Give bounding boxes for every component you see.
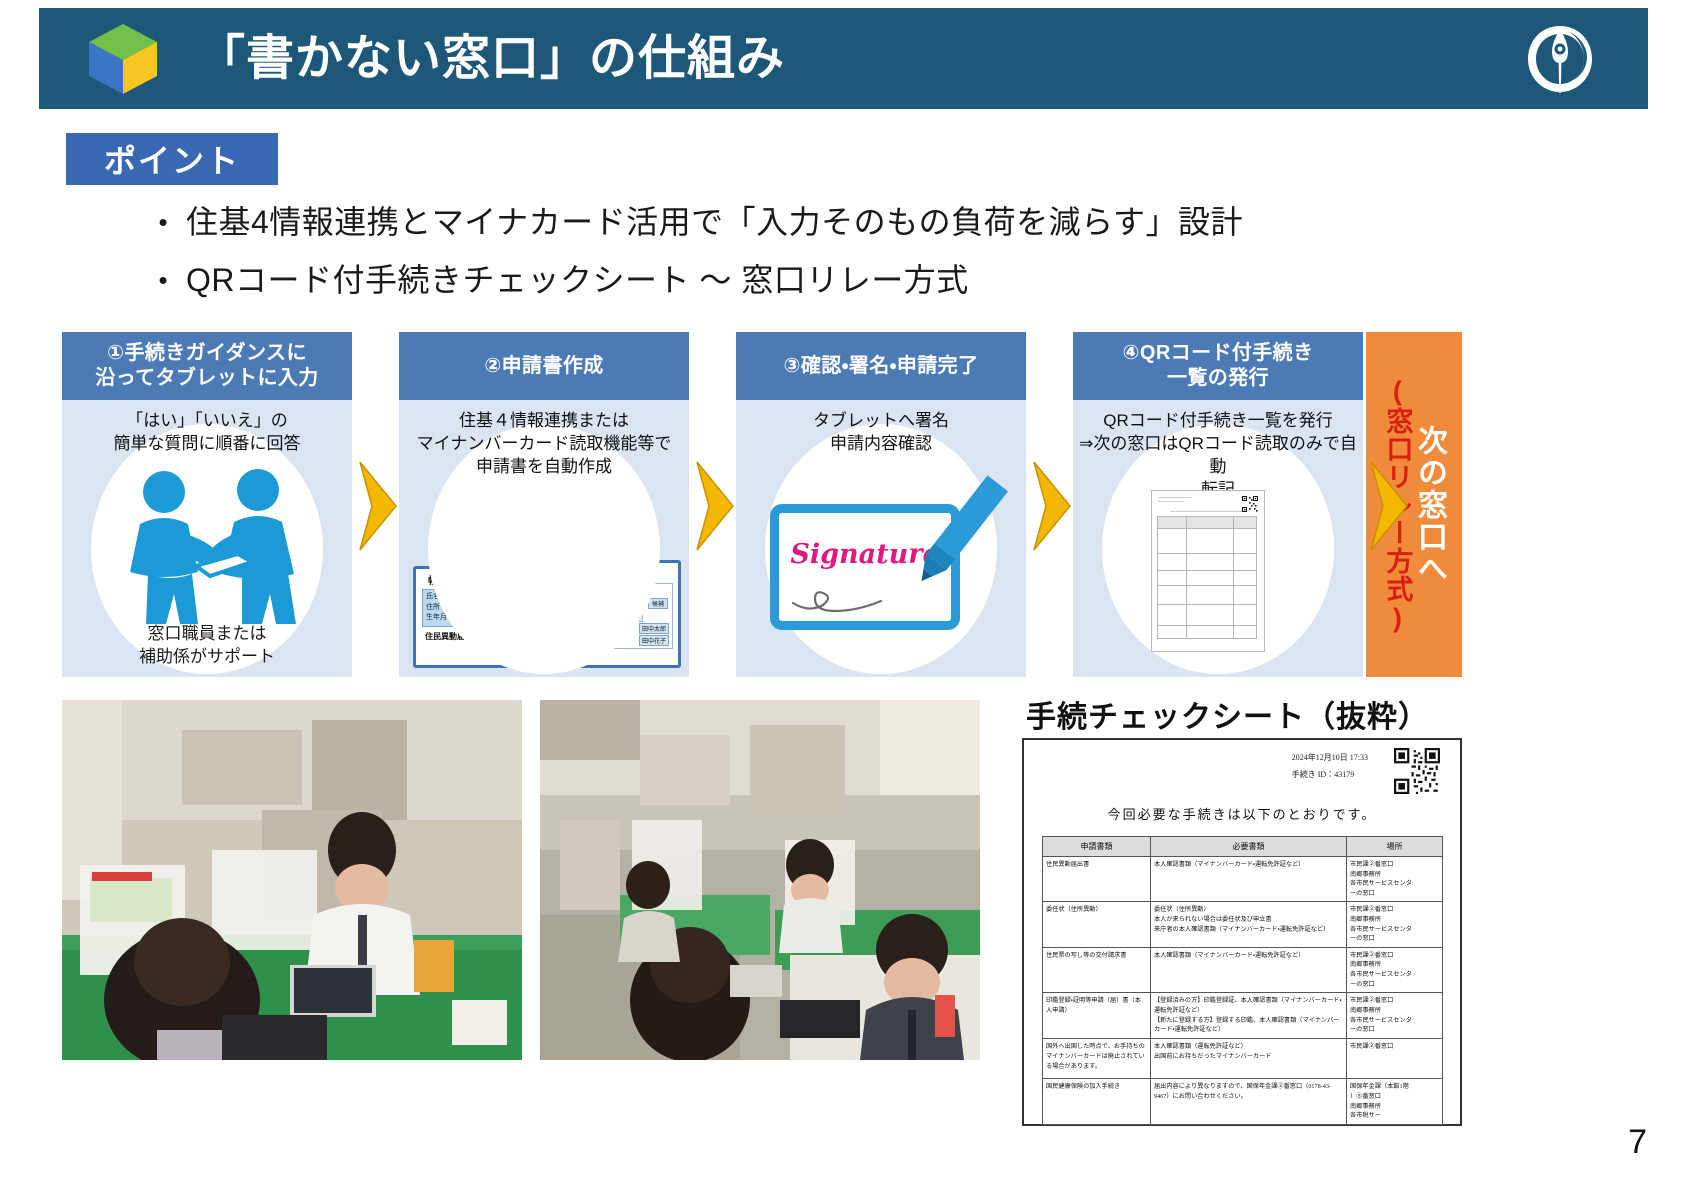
points-list: • 住基4情報連携とマイナカード活用で「入力そのもの負荷を減らす」設計 • QR… [140,200,1540,316]
cell-required: 届出内容により異なりますので、国保年金課②番窓口（0178-43-9467）にお… [1151,1079,1347,1124]
bullet-text: QRコード付手続きチェックシート ～ 窓口リレー方式 [186,258,969,302]
cell-place: 市民課②番窓口 南郷事務所 各市民サービスセンタ ーの窓口 [1347,947,1443,992]
column-header-document: 申請書類 [1043,837,1151,857]
cell-document: 印鑑登録・証明等申請（届）書（本人申請） [1043,993,1151,1039]
pen-icon [904,468,1014,603]
flow-step-1-heading: ①手続きガイダンスに 沿ってタブレットに入力 [62,332,352,400]
flow-step-1: ①手続きガイダンスに 沿ってタブレットに入力 「はい」「いいえ」の 簡単な質問に… [62,332,352,677]
check-sheet-timestamp: 2024年12月10日 17:33 [1292,750,1368,767]
table-row: 委任状（住所異動） 委任状（住所異動） 本人が来られない場合は委任状及び申立書 … [1043,902,1443,947]
cell-place: 国保年金課（本館1階 ）⑤番窓口 南郷事務所 各市税サー [1347,1079,1443,1124]
flow-step-4-caption: QRコード付手続き一覧を発行 ⇒次の窓口はQRコード読取のみで自動 転記 [1073,400,1363,502]
check-sheet-meta: 2024年12月10日 17:33 手続き ID：43179 [1292,750,1368,784]
cell-document: 国外へ出国した時点で、お手持ちのマイナンバーカードは廃止されている場合があります… [1043,1039,1151,1079]
flow-step-2-heading: ②申請書作成 [399,332,689,400]
check-sheet-title: 手続チェックシート（抜粋） [1026,692,1429,736]
page-title: 「書かない窓口」の仕組み [197,35,785,83]
relay-banner-main: 次の窓口へ [1413,425,1445,585]
check-sheet-lead: 今回必要な手続きは以下のとおりです。 [1024,804,1460,823]
flow-step-3: ③確認・署名・申請完了 タブレットへ署名 申請内容確認 Signature [736,332,1026,677]
cell-required: 本人確認書類（マイナンバーカード・運転免許証など） [1151,947,1347,992]
qr-code-icon [1242,496,1258,512]
candidate-button[interactable]: 候補 [648,598,668,609]
flow-step-1-body: 「はい」「いいえ」の 簡単な質問に順番に回答 [62,400,352,677]
point-badge: ポイント [66,133,278,185]
flow-step-3-heading: ③確認・署名・申請完了 [736,332,1026,400]
cell-place: 市民課②番窓口 [1347,1039,1443,1079]
page-number: 7 [1628,1123,1647,1162]
cell-required: 本人確認書類（マイナンバーカード・運転免許証など） [1151,857,1347,902]
two-people-tablet-icon [62,462,352,627]
qr-code-icon [1394,748,1440,794]
counter-photo-left [62,700,522,1060]
table-row: 国民健康保険の加入手続き 届出内容により異なりますので、国保年金課②番窓口（01… [1043,1079,1443,1124]
flow-step-1-footer: 窓口職員または 補助係がサポート [62,623,352,669]
column-header-place: 場所 [1347,837,1443,857]
table-header-row: 申請書類 必要書類 場所 [1043,837,1443,857]
cell-required: 委任状（住所異動） 本人が来られない場合は委任状及び申立書 来庁者の本人確認書類… [1151,902,1347,947]
table-row: 印鑑登録・証明等申請（届）書（本人申請） 【登録済みの方】印鑑登録証、本人確認書… [1043,993,1443,1039]
hachinohe-city-emblem-icon [1524,21,1596,97]
flow-step-4-body: QRコード付手続き一覧を発行 ⇒次の窓口はQRコード読取のみで自動 転記 [1073,400,1363,677]
table-row: 国外へ出国した時点で、お手持ちのマイナンバーカードは廃止されている場合があります… [1043,1039,1443,1079]
cell-document: 委任状（住所異動） [1043,902,1151,947]
cell-place: 市民課②番窓口 南郷事務所 各市民サービスセンタ ーの窓口 [1347,857,1443,902]
flow-arrow-4 [1369,460,1409,552]
column-header-required: 必要書類 [1151,837,1347,857]
process-flow: ①手続きガイダンスに 沿ってタブレットに入力 「はい」「いいえ」の 簡単な質問に… [62,332,1562,677]
cell-required: 【登録済みの方】印鑑登録証、本人確認書類（マイナンバーカード・運転免許証など） … [1151,993,1347,1039]
bullet-marker: • [140,200,186,244]
cell-place: 市民課②番窓口 南郷事務所 各市民サービスセンタ ーの窓口 [1347,993,1443,1039]
flow-step-2-body: 住基４情報連携または マイナンバーカード読取機能等で 申請書を自動作成 帳票間の… [399,400,689,677]
check-sheet-table: 申請書類 必要書類 場所 住民異動届出書 本人確認書類（マイナンバーカード・運転… [1042,836,1443,1125]
cell-document: 国民健康保険の加入手続き [1043,1079,1151,1124]
counter-photo-right [540,700,980,1060]
flow-arrow-3 [1032,460,1072,552]
check-sheet: 2024年12月10日 17:33 手続き ID：43179 今回必要な手続きは… [1022,738,1462,1126]
cell-document: 住民票の写し等の交付請求書 [1043,947,1151,992]
table-row: 住民票の写し等の交付請求書 本人確認書類（マイナンバーカード・運転免許証など） … [1043,947,1443,992]
check-sheet-procedure-id: 手続き ID：43179 [1292,767,1368,784]
cell-document: 住民異動届出書 [1043,857,1151,902]
flow-step-2: ②申請書作成 住基４情報連携または マイナンバーカード読取機能等で 申請書を自動… [399,332,689,677]
list-item: • 住基4情報連携とマイナカード活用で「入力そのもの負荷を減らす」設計 [140,200,1540,244]
flow-step-3-caption: タブレットへ署名 申請内容確認 [736,400,1026,456]
cell-required: 本人確認書類（運転免許証など） 出国前にお持ちだったマイナンバーカード [1151,1039,1347,1079]
slide-header: 「書かない窓口」の仕組み [39,8,1648,109]
table-row: 住民異動届出書 本人確認書類（マイナンバーカード・運転免許証など） 市民課②番窓… [1043,857,1443,902]
bullet-text: 住基4情報連携とマイナカード活用で「入力そのもの負荷を減らす」設計 [186,200,1243,244]
cube-logo-icon [85,21,161,97]
flow-step-4: ④QRコード付手続き 一覧の発行 QRコード付手続き一覧を発行 ⇒次の窓口はQR… [1073,332,1363,677]
candidate-option-2[interactable]: 田中花子 [639,635,669,646]
candidate-option-1[interactable]: 田中太郎 [639,623,669,634]
bullet-marker: • [140,258,186,302]
qr-document-icon [1151,490,1265,652]
cell-place: 市民課②番窓口 南郷事務所 各市民サービスセンタ ーの窓口 [1347,902,1443,947]
flow-arrow-1 [358,460,398,552]
flow-step-2-caption: 住基４情報連携または マイナンバーカード読取機能等で 申請書を自動作成 [399,400,689,479]
flow-step-1-caption: 「はい」「いいえ」の 簡単な質問に順番に回答 [62,400,352,456]
flow-step-3-body: タブレットへ署名 申請内容確認 Signature [736,400,1026,677]
flow-step-4-heading: ④QRコード付手続き 一覧の発行 [1073,332,1363,400]
flow-arrow-2 [695,460,735,552]
list-item: • QRコード付手続きチェックシート ～ 窓口リレー方式 [140,258,1540,302]
